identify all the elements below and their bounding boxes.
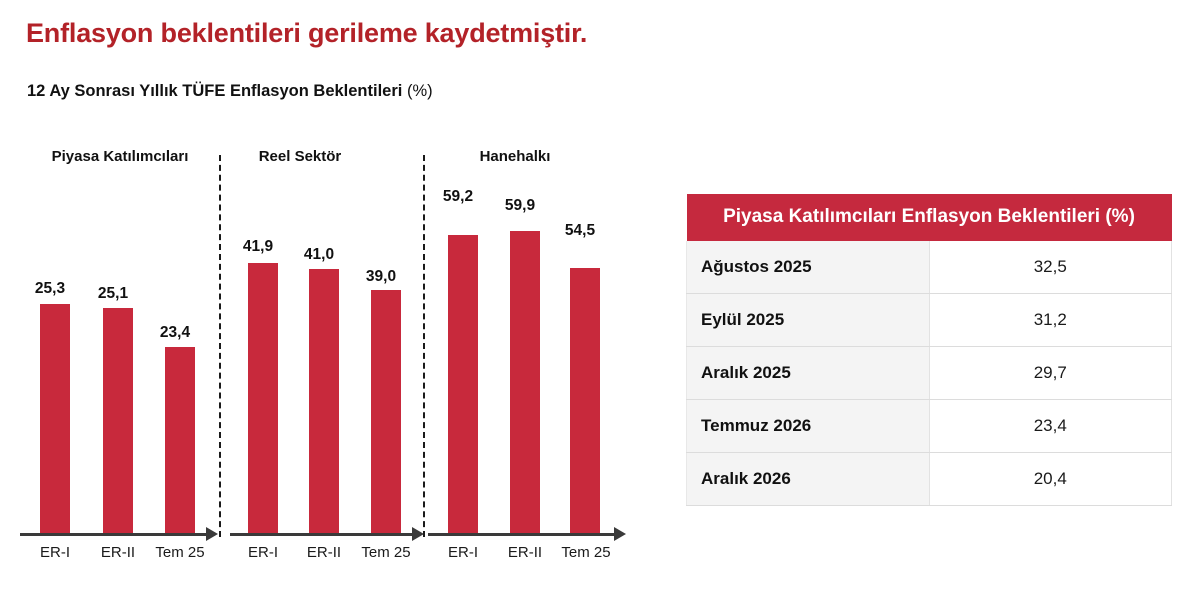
table-row: Ağustos 2025 32,5 xyxy=(687,241,1172,294)
x-tick-label: ER-I xyxy=(428,544,498,561)
chart-group-plot: 25,3 25,1 23,4 xyxy=(20,140,220,534)
x-axis-tick-labels: ER-I ER-II Tem 25 xyxy=(20,544,220,570)
chart-group-piyasa-katilimcilari: Piyasa Katılımcıları 25,3 25,1 23,4 ER-I… xyxy=(20,140,220,580)
x-tick-label: ER-I xyxy=(20,544,90,561)
x-tick-label: ER-II xyxy=(289,544,359,561)
table-row: Aralık 2026 20,4 xyxy=(687,453,1172,506)
table-cell-value: 20,4 xyxy=(929,453,1172,506)
chart-group-plot: 41,9 41,0 39,0 xyxy=(230,140,426,534)
table-row: Temmuz 2026 23,4 xyxy=(687,400,1172,453)
x-axis-tick-labels: ER-I ER-II Tem 25 xyxy=(428,544,626,570)
table-row: Aralık 2025 29,7 xyxy=(687,347,1172,400)
table-cell-value: 23,4 xyxy=(929,400,1172,453)
x-axis-arrow-icon xyxy=(614,527,626,541)
table-cell-period: Ağustos 2025 xyxy=(687,241,930,294)
x-tick-label: Tem 25 xyxy=(145,544,215,561)
chart-group-hanehalki: Hanehalkı 59,2 59,9 54,5 ER-I ER-II Tem … xyxy=(428,140,626,580)
bar xyxy=(309,269,339,534)
bar xyxy=(510,231,540,534)
x-axis-line xyxy=(428,533,614,536)
table-cell-value: 31,2 xyxy=(929,294,1172,347)
expectations-table: Piyasa Katılımcıları Enflasyon Beklentil… xyxy=(686,194,1172,506)
bar-value-label: 39,0 xyxy=(348,268,414,286)
bar-value-label: 25,1 xyxy=(80,285,146,303)
x-tick-label: ER-I xyxy=(228,544,298,561)
bar-chart: Piyasa Katılımcıları 25,3 25,1 23,4 ER-I… xyxy=(0,0,660,590)
bar-value-label: 25,3 xyxy=(17,280,83,298)
bar-value-label: 54,5 xyxy=(547,222,613,240)
bar xyxy=(165,347,195,534)
table-header-title: Piyasa Katılımcıları Enflasyon Beklentil… xyxy=(687,194,1172,241)
bar xyxy=(448,235,478,534)
x-tick-label: Tem 25 xyxy=(551,544,621,561)
chart-group-plot: 59,2 59,9 54,5 xyxy=(428,140,626,534)
table-header-row: Piyasa Katılımcıları Enflasyon Beklentil… xyxy=(687,194,1172,241)
group-divider xyxy=(423,155,425,537)
bar xyxy=(371,290,401,534)
x-axis-line xyxy=(230,533,412,536)
bar xyxy=(103,308,133,534)
x-axis-arrow-icon xyxy=(206,527,218,541)
table-cell-value: 29,7 xyxy=(929,347,1172,400)
group-divider xyxy=(219,155,221,537)
bar-value-label: 41,9 xyxy=(225,238,291,256)
table-cell-period: Eylül 2025 xyxy=(687,294,930,347)
table-row: Eylül 2025 31,2 xyxy=(687,294,1172,347)
x-axis-tick-labels: ER-I ER-II Tem 25 xyxy=(230,544,426,570)
bar-value-label: 41,0 xyxy=(286,246,352,264)
table-cell-period: Temmuz 2026 xyxy=(687,400,930,453)
bar-value-label: 23,4 xyxy=(142,324,208,342)
table-cell-period: Aralık 2026 xyxy=(687,453,930,506)
bar-value-label: 59,9 xyxy=(487,197,553,215)
bar xyxy=(40,304,70,534)
bar xyxy=(248,263,278,534)
table-cell-period: Aralık 2025 xyxy=(687,347,930,400)
x-axis-line xyxy=(20,533,206,536)
table-cell-value: 32,5 xyxy=(929,241,1172,294)
x-tick-label: ER-II xyxy=(490,544,560,561)
bar-value-label: 59,2 xyxy=(425,188,491,206)
chart-group-reel-sektor: Reel Sektör 41,9 41,0 39,0 ER-I ER-II Te… xyxy=(230,140,426,580)
x-tick-label: Tem 25 xyxy=(351,544,421,561)
bar xyxy=(570,268,600,534)
x-tick-label: ER-II xyxy=(83,544,153,561)
